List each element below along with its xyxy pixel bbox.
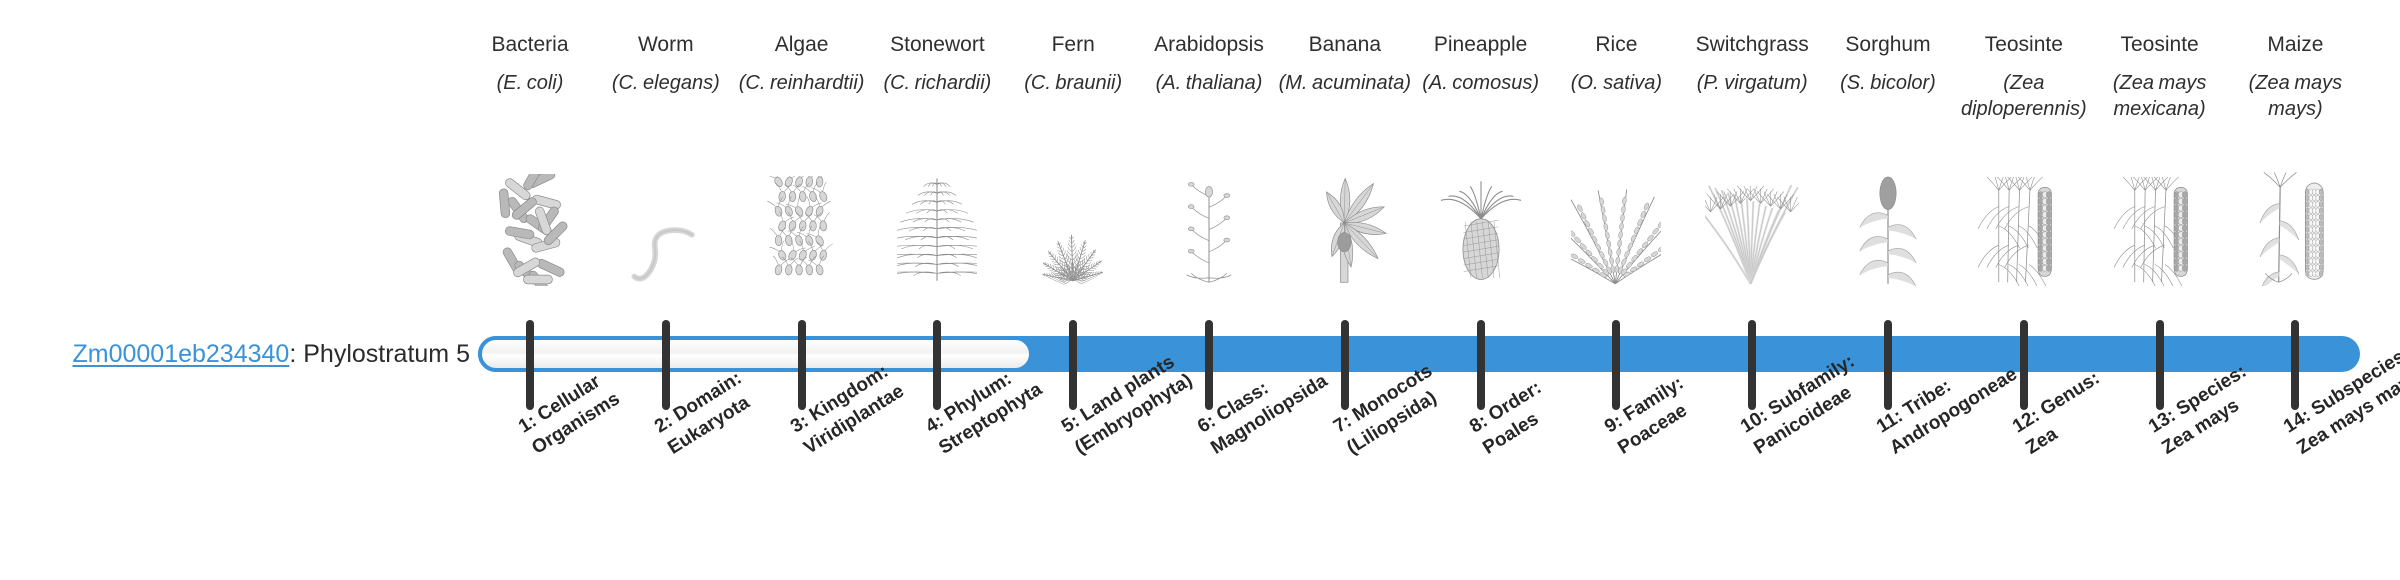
phylostratum-tick[interactable] <box>2291 320 2299 410</box>
banana-plant-icon <box>1277 168 1413 286</box>
sorghum-icon <box>1820 168 1956 286</box>
species-common-name: Fern <box>1005 30 1141 60</box>
species-latin-name: (C. reinhardtii) <box>734 70 870 96</box>
species-common-name: Teosinte <box>2092 30 2228 60</box>
phylostratum-tick[interactable] <box>2156 320 2164 410</box>
rank-name: Species: Zea mays <box>2158 361 2250 459</box>
rank-number: 7: <box>1330 411 1355 438</box>
species-common-name: Rice <box>1548 30 1684 60</box>
fern-frond-icon <box>1005 168 1141 286</box>
rice-plant-icon <box>1548 168 1684 286</box>
rank-name: Class: Magnoliopsida <box>1207 370 1331 458</box>
green-algae-icon <box>734 168 870 286</box>
species-column-header: Sorghum(S. bicolor) <box>1820 30 1956 96</box>
rank-name: Tribe: Andropogoneae <box>1886 364 2021 459</box>
phylostratum-tick[interactable] <box>2020 320 2028 410</box>
phylostratum-tick[interactable] <box>1748 320 1756 410</box>
rank-number: 6: <box>1194 411 1219 438</box>
teosinte-plant-ear-icon <box>2092 168 2228 286</box>
rank-name: Cellular Organisms <box>528 371 623 459</box>
species-column-header: Teosinte(Zea diploperennis) <box>1956 30 2092 122</box>
species-common-name: Worm <box>598 30 734 60</box>
species-latin-name: (Zea diploperennis) <box>1956 70 2092 122</box>
species-column-header: Pineapple(A. comosus) <box>1413 30 1549 96</box>
rank-name: Monocots (Liliopsida) <box>1343 360 1440 458</box>
phylostratum-tick[interactable] <box>662 320 670 410</box>
rank-number: 1: <box>515 411 540 438</box>
species-column-header: Bacteria(E. coli) <box>462 30 598 96</box>
species-common-name: Bacteria <box>462 30 598 60</box>
species-common-name: Sorghum <box>1820 30 1956 60</box>
species-column-header: Worm(C. elegans) <box>598 30 734 96</box>
phylostratum-tick[interactable] <box>1069 320 1077 410</box>
phylostratigraphy-figure: Zm00001eb234340: Phylostratum 5 Bacteria… <box>0 0 2400 580</box>
species-latin-name: (P. virgatum) <box>1684 70 1820 96</box>
species-common-name: Switchgrass <box>1684 30 1820 60</box>
phylostratum-tick[interactable] <box>1205 320 1213 410</box>
bacteria-rods-icon <box>462 168 598 286</box>
species-latin-name: (A. thaliana) <box>1141 70 1277 96</box>
species-column-header: Banana(M. acuminata) <box>1277 30 1413 96</box>
species-column-header: Maize(Zea mays mays) <box>2227 30 2363 122</box>
species-common-name: Teosinte <box>1956 30 2092 60</box>
pineapple-icon <box>1413 168 1549 286</box>
nematode-worm-icon <box>598 168 734 286</box>
species-column-header: Teosinte(Zea mays mexicana) <box>2092 30 2228 122</box>
phylostratum-tick[interactable] <box>1612 320 1620 410</box>
rank-number: 5: <box>1058 411 1083 438</box>
species-latin-name: (C. braunii) <box>1005 70 1141 96</box>
species-latin-name: (Zea mays mays) <box>2227 70 2363 122</box>
species-common-name: Stonewort <box>869 30 1005 60</box>
species-common-name: Arabidopsis <box>1141 30 1277 60</box>
species-latin-name: (Zea mays mexicana) <box>2092 70 2228 122</box>
gene-label-separator: : <box>289 340 303 368</box>
species-column-header: Stonewort(C. richardii) <box>869 30 1005 96</box>
species-common-name: Pineapple <box>1413 30 1549 60</box>
species-common-name: Maize <box>2227 30 2363 60</box>
species-latin-name: (A. comosus) <box>1413 70 1549 96</box>
phylostratum-tick[interactable] <box>1341 320 1349 410</box>
species-latin-name: (O. sativa) <box>1548 70 1684 96</box>
gene-phylostratum-label: Zm00001eb234340: Phylostratum 5 <box>0 338 470 370</box>
species-latin-name: (M. acuminata) <box>1277 70 1413 96</box>
stonewort-icon <box>869 168 1005 286</box>
species-latin-name: (C. elegans) <box>598 70 734 96</box>
rank-name: Family: Poaceae <box>1615 373 1692 459</box>
rank-number: 3: <box>787 411 812 438</box>
species-column-header: Fern(C. braunii) <box>1005 30 1141 96</box>
switchgrass-icon <box>1684 168 1820 286</box>
arabidopsis-icon <box>1141 168 1277 286</box>
species-common-name: Banana <box>1277 30 1413 60</box>
teosinte-plant-ear-icon <box>1956 168 2092 286</box>
species-common-name: Algae <box>734 30 870 60</box>
phylostratum-tick[interactable] <box>1884 320 1892 410</box>
rank-number: 2: <box>651 411 676 438</box>
gene-id-link[interactable]: Zm00001eb234340 <box>72 340 289 368</box>
phylostratum-tick[interactable] <box>526 320 534 410</box>
phylostratum-tick[interactable] <box>798 320 806 410</box>
species-column-header: Arabidopsis(A. thaliana) <box>1141 30 1277 96</box>
rank-name: Order: Poales <box>1479 377 1545 459</box>
rank-name: Phylum: Streptophyta <box>936 368 1047 458</box>
phylostratum-tick[interactable] <box>1477 320 1485 410</box>
rank-number: 8: <box>1466 411 1491 438</box>
maize-plant-ear-icon <box>2227 168 2363 286</box>
rank-name: Kingdom: Viridiplantae <box>800 361 908 459</box>
phylostratum-tick[interactable] <box>933 320 941 410</box>
phylostratum-value: Phylostratum 5 <box>303 340 470 368</box>
species-column-header: Algae(C. reinhardtii) <box>734 30 870 96</box>
species-latin-name: (S. bicolor) <box>1820 70 1956 96</box>
species-column-header: Rice(O. sativa) <box>1548 30 1684 96</box>
species-latin-name: (E. coli) <box>462 70 598 96</box>
rank-name: Domain: Eukaryota <box>664 368 753 459</box>
species-latin-name: (C. richardii) <box>869 70 1005 96</box>
species-column-header: Switchgrass(P. virgatum) <box>1684 30 1820 96</box>
